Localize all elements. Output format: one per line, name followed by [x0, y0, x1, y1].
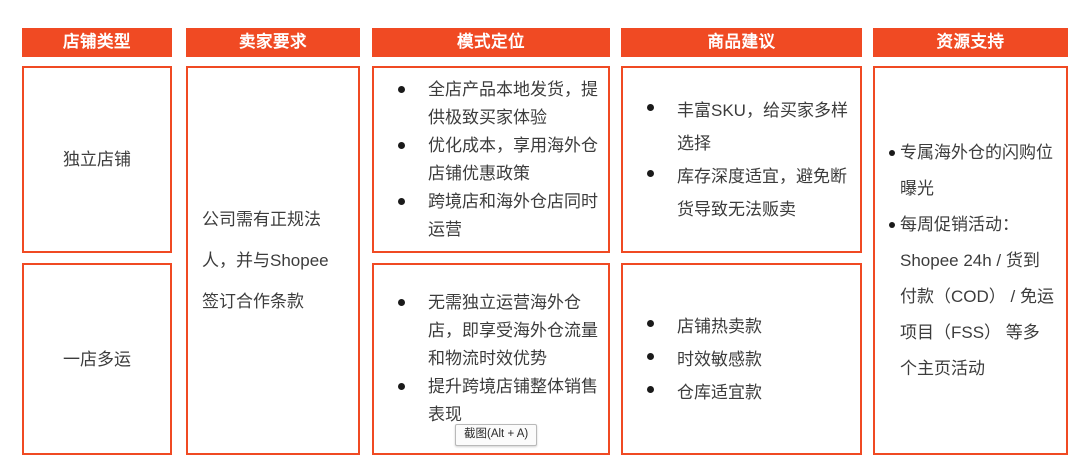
bullet-dot-icon: [398, 383, 405, 390]
list-item-text: 仓库适宜款: [677, 383, 762, 402]
list-item-text: 专属海外仓的闪购位曝光: [900, 143, 1053, 198]
column-header-label: 模式定位: [457, 34, 525, 51]
cell-shop-type-independent: 独立店铺: [22, 66, 172, 253]
column-header-label: 店铺类型: [63, 34, 131, 51]
list-item: 丰富SKU，给买家多样选择: [641, 94, 852, 160]
bullet-dot-icon: [647, 170, 654, 177]
bullet-dot-icon: [647, 353, 654, 360]
column-header-shop-type: 店铺类型: [22, 28, 172, 57]
column-header-mode-positioning: 模式定位: [372, 28, 610, 57]
list-item-text: 优化成本，享用海外仓店铺优惠政策: [428, 136, 598, 183]
screenshot-tooltip: 截图(Alt + A): [455, 424, 537, 446]
cell-text: 公司需有正规法人，并与Shopee签订合作条款: [202, 199, 344, 322]
column-header-seller-requirements: 卖家要求: [186, 28, 360, 57]
cell-text: 一店多运: [63, 351, 131, 368]
list-item: 每周促销活动：Shopee 24h / 货到付款（COD） / 免运项目（FSS…: [889, 207, 1054, 387]
bullet-list: 店铺热卖款 时效敏感款 仓库适宜款: [641, 310, 852, 409]
list-item-text: 跨境店和海外仓店同时运营: [428, 192, 598, 239]
list-item-text: 无需独立运营海外仓店，即享受海外仓流量和物流时效优势: [428, 293, 598, 368]
column-header-label: 商品建议: [708, 34, 776, 51]
column-header-label: 卖家要求: [239, 34, 307, 51]
bullet-list: 丰富SKU，给买家多样选择 库存深度适宜，避免断货导致无法贩卖: [641, 94, 852, 226]
bullet-list: 专属海外仓的闪购位曝光 每周促销活动：Shopee 24h / 货到付款（COD…: [889, 135, 1054, 387]
comparison-table: 店铺类型 卖家要求 模式定位 商品建议 资源支持 独立店铺 一店多运 公司需有正…: [0, 0, 1080, 465]
column-header-resource-support: 资源支持: [873, 28, 1068, 57]
bullet-dot-icon: [398, 198, 405, 205]
cell-text: 独立店铺: [63, 151, 131, 168]
list-item-text: 丰富SKU，给买家多样选择: [677, 101, 848, 153]
bullet-list: 全店产品本地发货，提供极致买家体验 优化成本，享用海外仓店铺优惠政策 跨境店和海…: [392, 76, 600, 244]
cell-product-advice-multi-ship: 店铺热卖款 时效敏感款 仓库适宜款: [621, 263, 862, 455]
list-item-text: 店铺热卖款: [677, 317, 762, 336]
screenshot-tooltip-label: 截图(Alt + A): [464, 428, 528, 440]
list-item: 跨境店和海外仓店同时运营: [392, 188, 600, 244]
bullet-dot-icon: [889, 150, 895, 156]
cell-shop-type-multi-ship: 一店多运: [22, 263, 172, 455]
column-header-product-advice: 商品建议: [621, 28, 862, 57]
list-item: 优化成本，享用海外仓店铺优惠政策: [392, 132, 600, 188]
list-item: 时效敏感款: [641, 343, 852, 376]
bullet-dot-icon: [647, 104, 654, 111]
list-item: 提升跨境店铺整体销售表现: [392, 373, 600, 429]
cell-mode-positioning-independent: 全店产品本地发货，提供极致买家体验 优化成本，享用海外仓店铺优惠政策 跨境店和海…: [372, 66, 610, 253]
list-item: 库存深度适宜，避免断货导致无法贩卖: [641, 160, 852, 226]
list-item-text: 全店产品本地发货，提供极致买家体验: [428, 80, 598, 127]
bullet-dot-icon: [647, 320, 654, 327]
bullet-list: 无需独立运营海外仓店，即享受海外仓流量和物流时效优势 提升跨境店铺整体销售表现: [392, 289, 600, 429]
cell-seller-requirements: 公司需有正规法人，并与Shopee签订合作条款: [186, 66, 360, 455]
list-item-text: 库存深度适宜，避免断货导致无法贩卖: [677, 167, 847, 219]
list-item-text: 提升跨境店铺整体销售表现: [428, 377, 598, 424]
bullet-dot-icon: [398, 86, 405, 93]
list-item: 专属海外仓的闪购位曝光: [889, 135, 1054, 207]
list-item: 无需独立运营海外仓店，即享受海外仓流量和物流时效优势: [392, 289, 600, 373]
bullet-dot-icon: [889, 222, 895, 228]
list-item: 仓库适宜款: [641, 376, 852, 409]
cell-resource-support: 专属海外仓的闪购位曝光 每周促销活动：Shopee 24h / 货到付款（COD…: [873, 66, 1068, 455]
list-item: 店铺热卖款: [641, 310, 852, 343]
column-header-label: 资源支持: [937, 34, 1005, 51]
list-item: 全店产品本地发货，提供极致买家体验: [392, 76, 600, 132]
cell-product-advice-independent: 丰富SKU，给买家多样选择 库存深度适宜，避免断货导致无法贩卖: [621, 66, 862, 253]
bullet-dot-icon: [398, 142, 405, 149]
list-item-text: 每周促销活动：Shopee 24h / 货到付款（COD） / 免运项目（FSS…: [900, 215, 1054, 378]
bullet-dot-icon: [398, 299, 405, 306]
list-item-text: 时效敏感款: [677, 350, 762, 369]
bullet-dot-icon: [647, 386, 654, 393]
